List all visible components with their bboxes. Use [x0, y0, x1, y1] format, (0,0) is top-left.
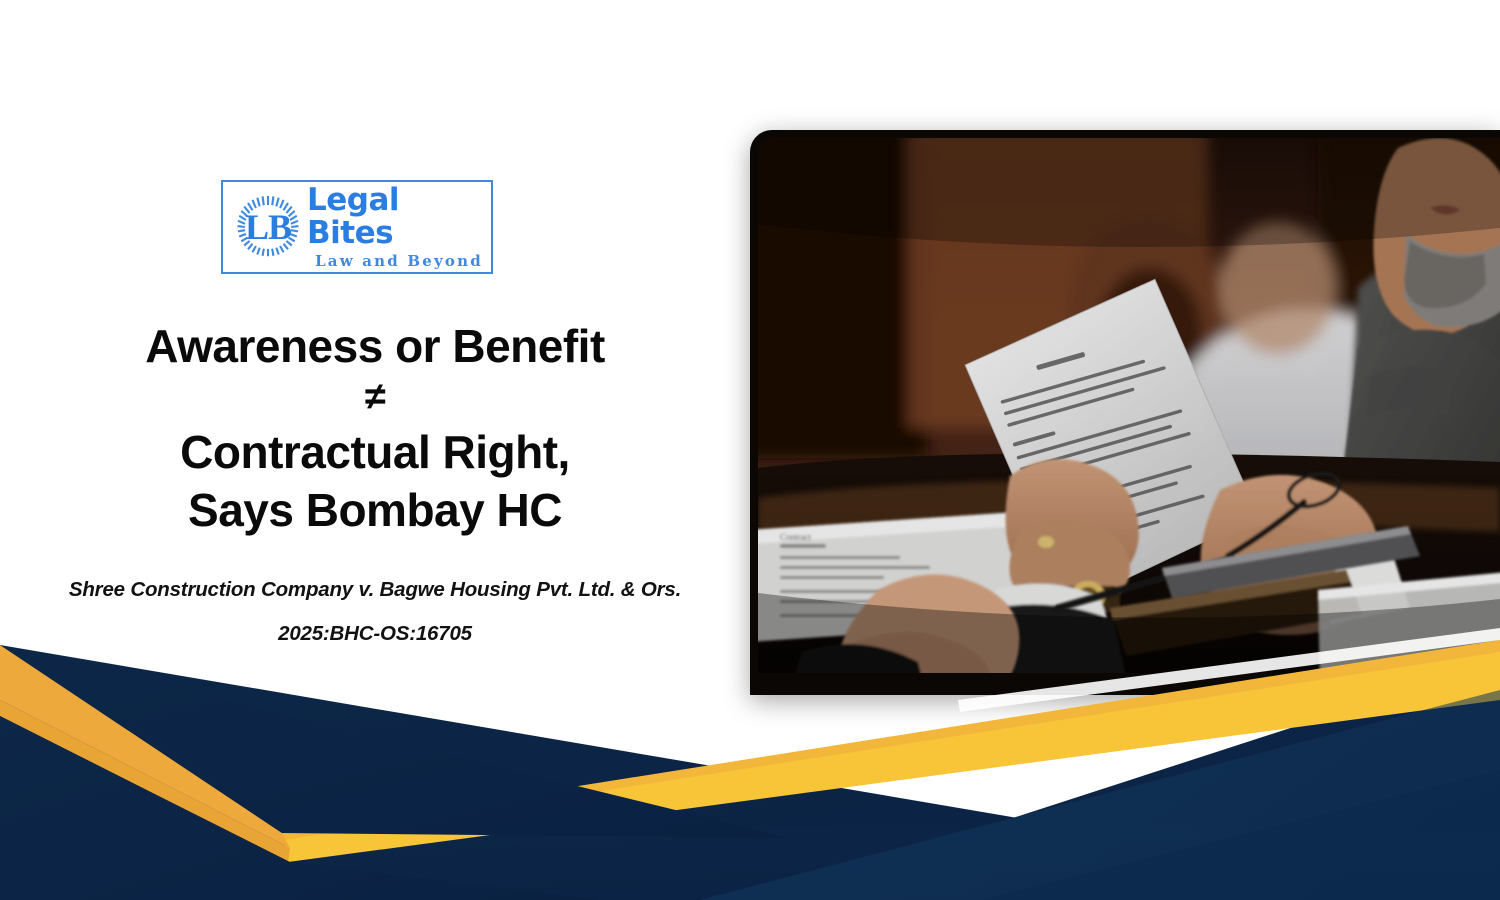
headline-line-2: Contractual Right,: [30, 424, 720, 482]
brand-name: Legal Bites: [307, 184, 491, 249]
hero-photo-image: Contract: [758, 138, 1500, 673]
light-blue-accent: [700, 690, 1500, 900]
meeting-photo-illustration: Contract: [758, 138, 1500, 673]
social-card: Contract: [0, 0, 1500, 900]
navy-base: [0, 830, 1500, 900]
navy-lower-left: [0, 716, 600, 900]
navy-fold: [0, 645, 790, 838]
lb-monogram: LB: [233, 192, 303, 262]
legal-bites-emblem-icon: LB: [233, 192, 303, 262]
headline-line-3: Says Bombay HC: [30, 482, 720, 540]
brand-tagline: Law and Beyond: [315, 252, 483, 270]
hero-photo: Contract: [750, 130, 1500, 695]
headline-line-1: Awareness or Benefit: [30, 318, 720, 376]
case-name: Shree Construction Company v. Bagwe Hous…: [30, 578, 720, 602]
case-citation: 2025:BHC-OS:16705: [30, 622, 720, 646]
amber-band-left-2: [0, 700, 290, 862]
brand-logo[interactable]: LB Legal Bites Law and Beyond: [221, 180, 493, 274]
amber-band-left: [0, 645, 290, 848]
light-blue-accent-2: [980, 770, 1500, 900]
navy-backdrop-right: [760, 660, 1500, 900]
brand-wordmark: Legal Bites Law and Beyond: [307, 184, 491, 269]
not-equal-symbol: ≠: [30, 378, 720, 416]
page-title: Awareness or Benefit ≠ Contractual Right…: [30, 318, 720, 540]
